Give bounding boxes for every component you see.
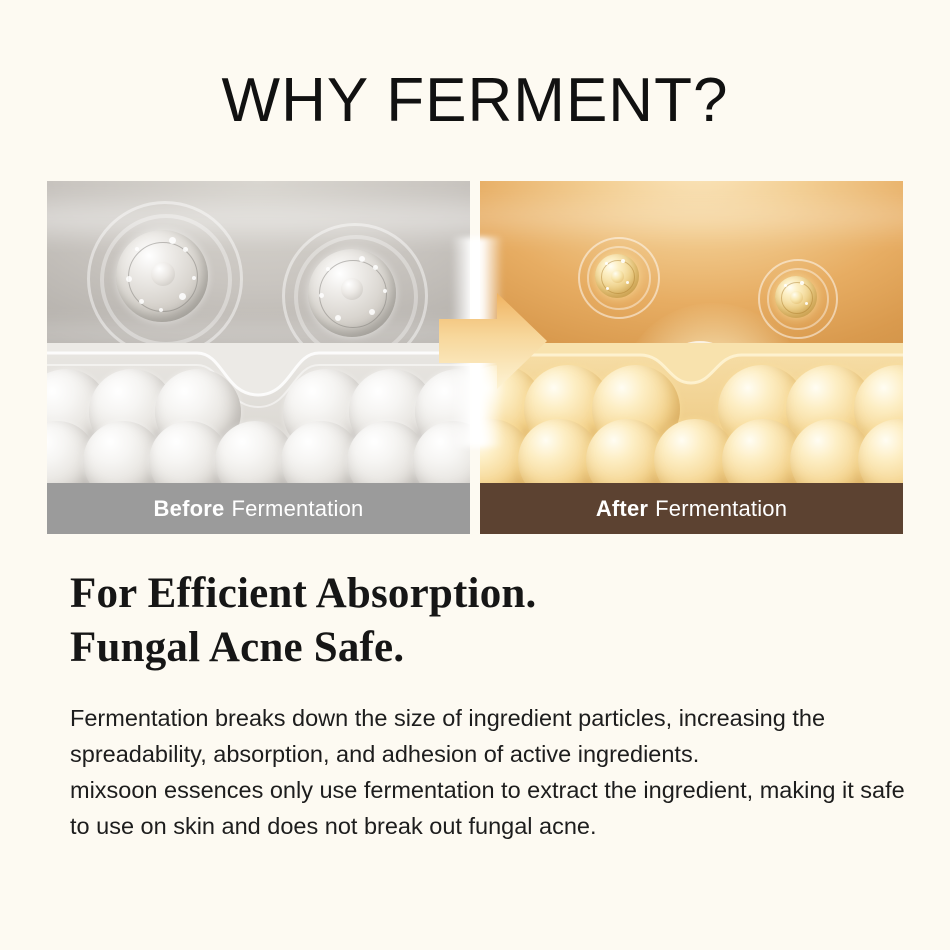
before-suffix-label: Fermentation bbox=[231, 496, 363, 522]
body-copy: Fermentation breaks down the size of ing… bbox=[70, 700, 910, 844]
transition-arrow bbox=[425, 281, 555, 401]
before-skin-layer bbox=[47, 343, 470, 483]
comparison-section: Before Fermentation bbox=[47, 181, 903, 534]
before-pearl-row bbox=[47, 343, 470, 483]
headline-line-1: For Efficient Absorption. bbox=[70, 567, 890, 621]
infographic-page: WHY FERMENT? bbox=[0, 0, 950, 950]
headline: For Efficient Absorption. Fungal Acne Sa… bbox=[70, 567, 890, 675]
right-arrow-icon bbox=[439, 289, 547, 393]
body-paragraph-2: mixsoon essences only use fermentation t… bbox=[70, 772, 910, 844]
after-caption-bar: After Fermentation bbox=[480, 483, 903, 534]
before-caption-bar: Before Fermentation bbox=[47, 483, 470, 534]
before-state-label: Before bbox=[154, 496, 225, 522]
page-title: WHY FERMENT? bbox=[0, 70, 950, 132]
before-illustration bbox=[47, 181, 470, 483]
panel-before: Before Fermentation bbox=[47, 181, 470, 534]
headline-line-2: Fungal Acne Safe. bbox=[70, 621, 890, 675]
after-state-label: After bbox=[596, 496, 648, 522]
body-paragraph-1: Fermentation breaks down the size of ing… bbox=[70, 700, 910, 772]
after-suffix-label: Fermentation bbox=[655, 496, 787, 522]
